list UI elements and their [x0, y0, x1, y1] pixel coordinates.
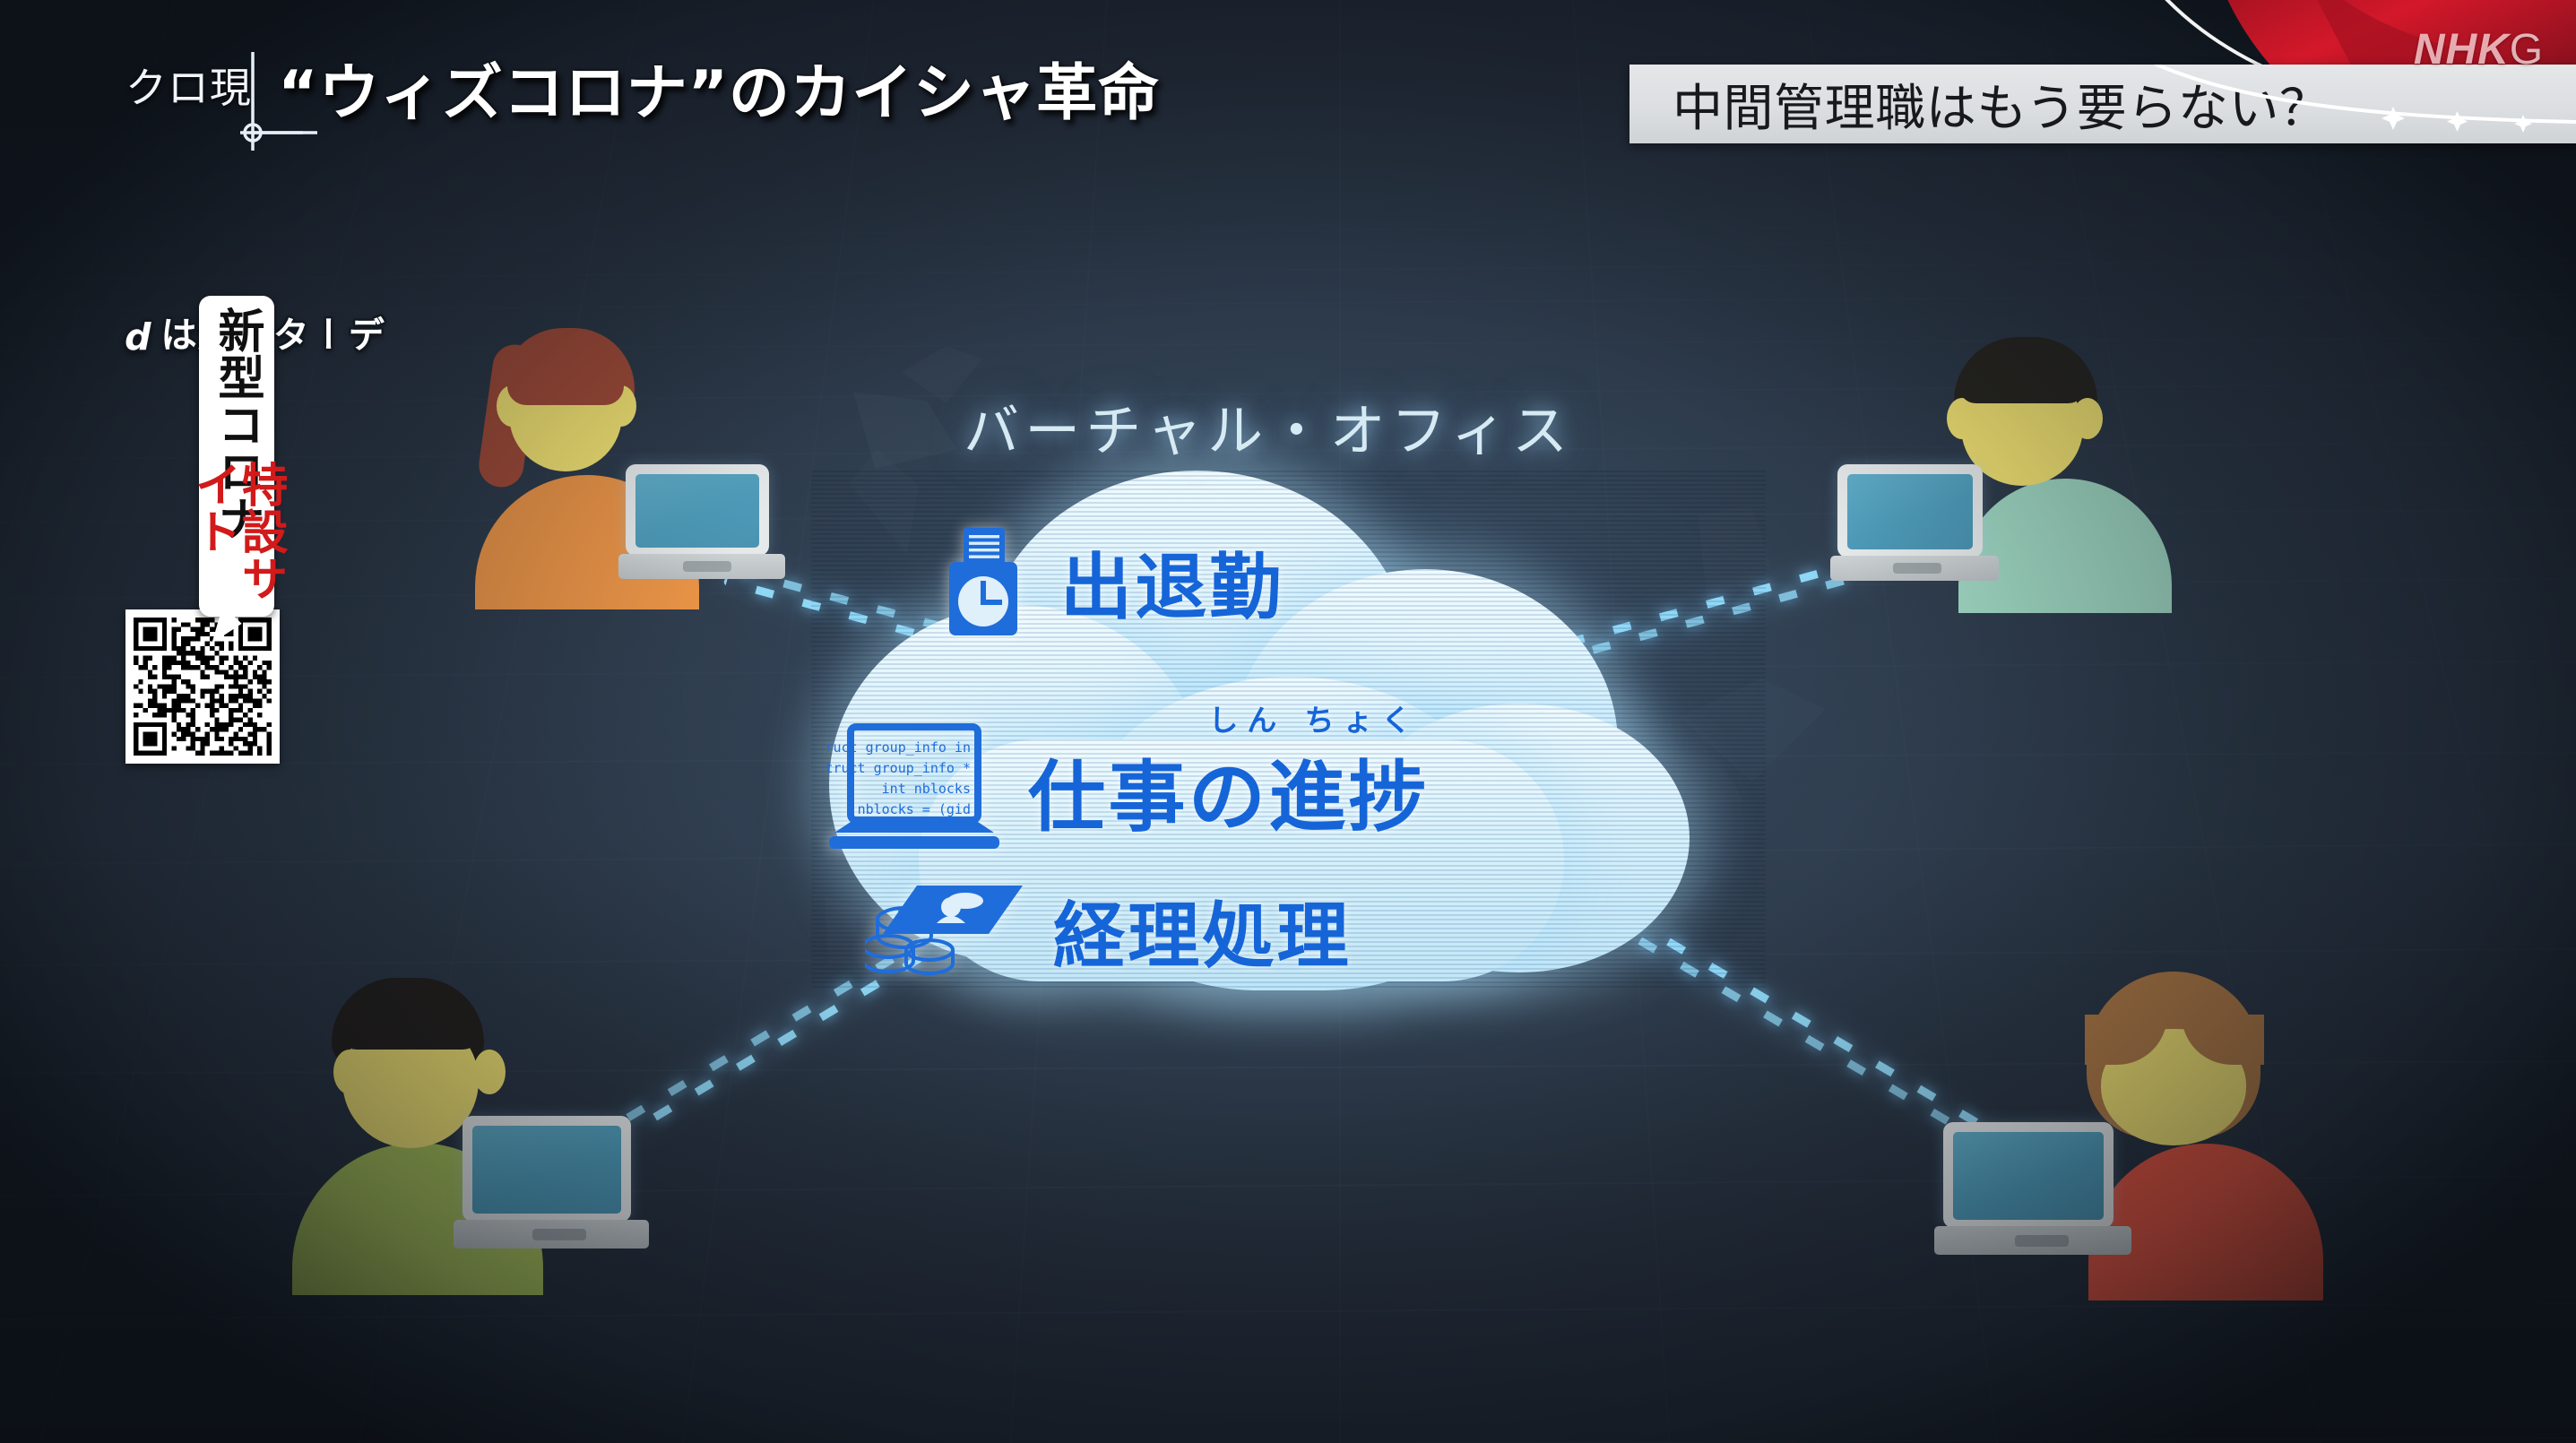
nhk-wordmark: NHK: [2414, 26, 2510, 73]
d-button-mark: d: [118, 315, 156, 360]
participant-top-right: [1820, 321, 2142, 590]
laptop-icon: [462, 1116, 642, 1259]
cloud-item-progress: struct group_info in struct group_info *…: [824, 723, 1429, 856]
participant-top-left: [466, 323, 789, 592]
broadcast-screen: 出退勤 struct group_info in struct group_in…: [0, 0, 2576, 1443]
laptop-code-icon: struct group_info in struct group_info *…: [824, 723, 1005, 856]
furigana-progress: しん ちょく: [1208, 696, 1420, 739]
promo-bubble-line2: 特設サイト: [190, 461, 283, 617]
svg-text:nblocks = (gid: nblocks = (gid: [858, 801, 971, 817]
program-logo: クロ現: [125, 56, 252, 115]
time-clock-icon: [937, 526, 1030, 637]
cloud-item-accounting: ¥ 経理処理: [865, 878, 1352, 982]
svg-text:struct group_info *: struct group_info *: [824, 760, 971, 776]
banner-sparkle-swoosh: [2155, 65, 2576, 143]
qr-code[interactable]: [125, 609, 280, 764]
cloud-item-label: 出退勤: [1060, 530, 1284, 634]
svg-text:struct group_info in: struct group_info in: [824, 739, 971, 756]
nhk-logo: NHKG: [2414, 25, 2544, 74]
laptop-icon: [1943, 1122, 2122, 1266]
svg-text:¥: ¥: [897, 908, 912, 930]
cloud-item-label: 経理処理: [1053, 878, 1352, 982]
participant-bottom-left: [287, 963, 663, 1259]
nhk-channel: G: [2510, 26, 2544, 73]
cloud-item-attendance: 出退勤: [937, 526, 1284, 637]
sub-banner: 中間管理職はもう要らない？: [1629, 65, 2576, 143]
participant-bottom-right: [1934, 959, 2311, 1255]
promo-bubble: 新型コロナ 特設サイト: [199, 296, 274, 617]
money-accounting-icon: ¥: [865, 878, 1026, 982]
svg-text:int nblocks: int nblocks: [882, 781, 971, 797]
scene-heading: バーチャル・オフィス: [964, 385, 1573, 466]
cloud-item-label: しん ちょく 仕事の進捗: [1028, 734, 1429, 846]
laptop-icon: [626, 464, 778, 590]
virtual-office-cloud: 出退勤 struct group_info in struct group_in…: [811, 471, 1766, 990]
page-title: “ウィズコロナ”のカイシャ革命: [278, 43, 1160, 132]
laptop-icon: [1837, 464, 1990, 590]
